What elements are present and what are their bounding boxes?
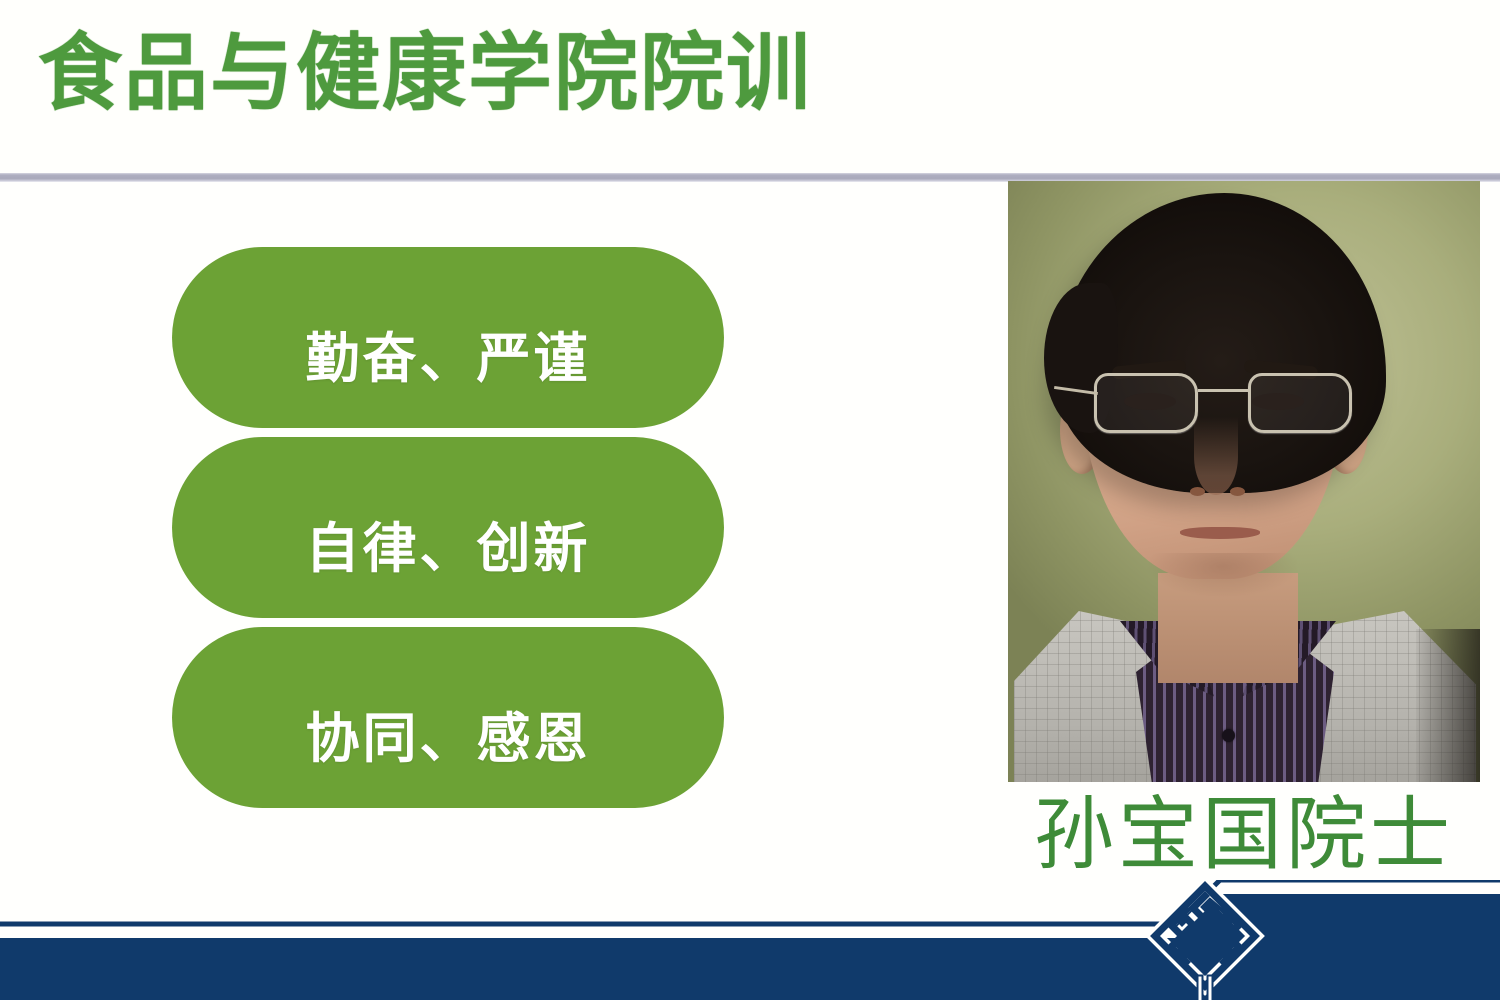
portrait-side-shadow <box>1416 629 1480 782</box>
motto-pill-2[interactable]: 自律、创新 <box>172 437 724 618</box>
motto-pill-stack: 勤奋、严谨 自律、创新 协同、感恩 <box>172 247 724 817</box>
page-title: 食品与健康学院院训 <box>38 26 812 120</box>
slide-root: 食品与健康学院院训 勤奋、严谨 自律、创新 协同、感恩 <box>0 0 1500 1000</box>
portrait-caption: 孙宝国院士 <box>1024 795 1464 875</box>
slide-header: 食品与健康学院院训 <box>0 0 1500 175</box>
portrait-image <box>1008 181 1480 782</box>
slide-footer <box>0 880 1500 1000</box>
portrait-nose <box>1194 417 1238 495</box>
portrait-photo <box>1008 181 1480 782</box>
portrait-nostril-left <box>1190 487 1205 496</box>
portrait-mouth <box>1180 527 1260 539</box>
portrait-chin-shadow <box>1148 553 1298 597</box>
portrait-shirt-button <box>1222 729 1235 742</box>
motto-pill-1-label: 勤奋、严谨 <box>306 332 591 428</box>
motto-pill-2-label: 自律、创新 <box>306 522 591 618</box>
footer-bar <box>0 894 1500 1000</box>
portrait-nostril-right <box>1230 487 1245 496</box>
motto-pill-3-label: 协同、感恩 <box>306 712 591 808</box>
portrait-lens-left <box>1094 373 1198 433</box>
motto-pill-3[interactable]: 协同、感恩 <box>172 627 724 808</box>
portrait-lens-right <box>1248 373 1352 433</box>
footer-graphic <box>0 880 1500 1000</box>
portrait-glasses-bridge <box>1198 389 1250 392</box>
motto-pill-1[interactable]: 勤奋、严谨 <box>172 247 724 428</box>
